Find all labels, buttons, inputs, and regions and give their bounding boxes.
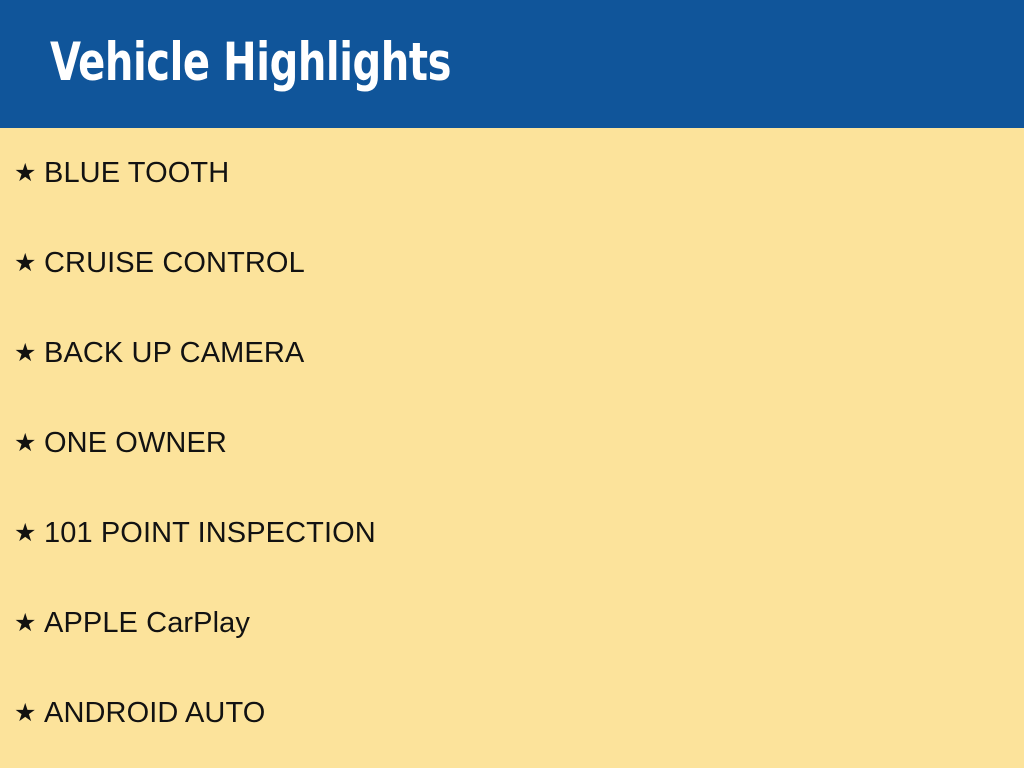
list-item: ★ APPLE CarPlay <box>0 578 1024 668</box>
highlight-label: BACK UP CAMERA <box>44 336 304 370</box>
star-icon: ★ <box>14 431 42 456</box>
highlight-label: 101 POINT INSPECTION <box>44 516 376 550</box>
page-title: Vehicle Highlights <box>50 30 451 96</box>
list-item: ★ ONE OWNER <box>0 398 1024 488</box>
vehicle-highlights-list: ★ BLUE TOOTH ★ CRUISE CONTROL ★ BACK UP … <box>0 128 1024 758</box>
panel-header: Vehicle Highlights <box>0 0 1024 128</box>
star-icon: ★ <box>14 161 42 186</box>
list-item: ★ 101 POINT INSPECTION <box>0 488 1024 578</box>
highlight-label: ANDROID AUTO <box>44 696 265 730</box>
vehicle-highlights-panel: Vehicle Highlights ★ BLUE TOOTH ★ CRUISE… <box>0 0 1024 768</box>
star-icon: ★ <box>14 251 42 276</box>
highlight-label: CRUISE CONTROL <box>44 246 305 280</box>
highlight-label: APPLE CarPlay <box>44 606 250 640</box>
highlight-label: BLUE TOOTH <box>44 156 229 190</box>
star-icon: ★ <box>14 701 42 726</box>
star-icon: ★ <box>14 521 42 546</box>
list-item: ★ CRUISE CONTROL <box>0 218 1024 308</box>
list-item: ★ BLUE TOOTH <box>0 128 1024 218</box>
list-item: ★ BACK UP CAMERA <box>0 308 1024 398</box>
highlight-label: ONE OWNER <box>44 426 227 460</box>
list-item: ★ ANDROID AUTO <box>0 668 1024 758</box>
star-icon: ★ <box>14 611 42 636</box>
star-icon: ★ <box>14 341 42 366</box>
